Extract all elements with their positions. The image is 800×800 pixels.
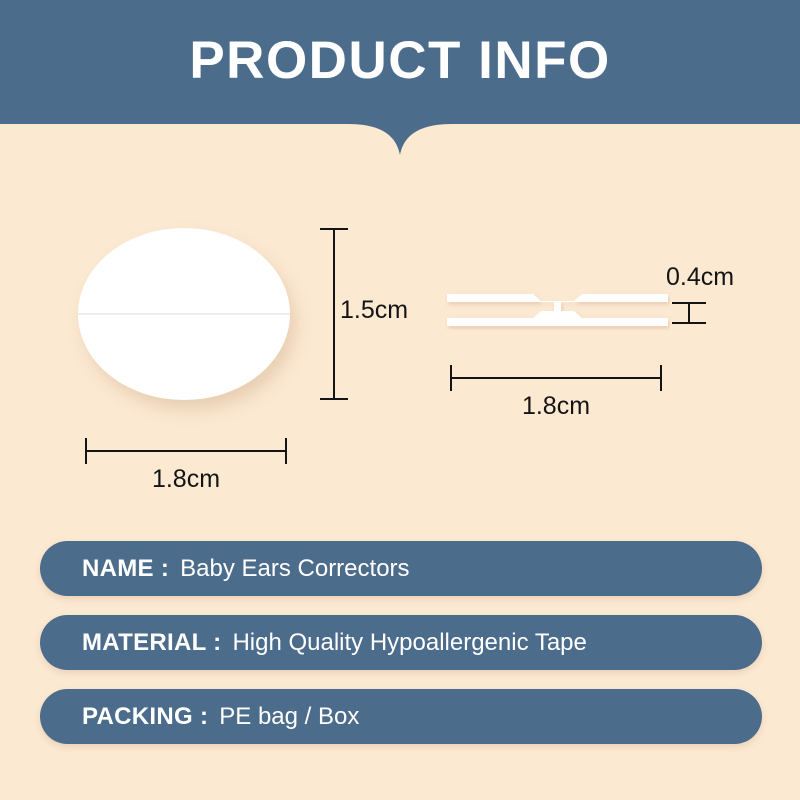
- spec-key-name: NAME :: [82, 555, 169, 583]
- spec-row-content: PACKING : PE bag / Box: [82, 689, 359, 744]
- side-width-dimension-line: [450, 365, 662, 391]
- disc-width-label: 1.8cm: [85, 465, 287, 494]
- spec-row-packing: PACKING : PE bag / Box: [40, 689, 762, 744]
- dimension-stem: [450, 377, 662, 379]
- product-info-page: PRODUCT INFO 1.5cm 1.8cm: [0, 0, 800, 800]
- spec-value-material: High Quality Hypoallergenic Tape: [232, 629, 586, 657]
- spec-row-content: MATERIAL : High Quality Hypoallergenic T…: [82, 615, 587, 670]
- spec-value-packing: PE bag / Box: [219, 703, 359, 731]
- side-thickness-dimension-line: [672, 302, 706, 324]
- dimension-stem: [688, 302, 690, 324]
- spec-row-material: MATERIAL : High Quality Hypoallergenic T…: [40, 615, 762, 670]
- dimension-cap-right: [285, 438, 287, 464]
- side-width-label: 1.8cm: [450, 392, 662, 421]
- disc-height-label: 1.5cm: [340, 296, 408, 325]
- dimension-cap-right: [660, 365, 662, 391]
- spec-value-name: Baby Ears Correctors: [180, 555, 409, 583]
- product-top-view-disc: [78, 228, 290, 400]
- spec-row-content: NAME : Baby Ears Correctors: [82, 541, 410, 596]
- header-banner: PRODUCT INFO: [0, 0, 800, 160]
- disc-seam-line: [78, 313, 290, 315]
- page-title: PRODUCT INFO: [0, 30, 800, 92]
- dimension-cap-bottom: [672, 322, 706, 324]
- side-thickness-label: 0.4cm: [666, 263, 734, 292]
- dimension-stem: [333, 228, 335, 400]
- tape-strip-profile-icon: [445, 290, 670, 330]
- product-illustration: 1.5cm 1.8cm 0.4: [0, 160, 800, 520]
- dimension-stem: [85, 450, 287, 452]
- disc-width-dimension-line: [85, 438, 287, 464]
- spec-list: NAME : Baby Ears Correctors MATERIAL : H…: [40, 541, 762, 763]
- product-side-view-strip: [445, 290, 670, 330]
- spec-key-material: MATERIAL :: [82, 629, 221, 657]
- spec-key-packing: PACKING :: [82, 703, 208, 731]
- dimension-cap-bottom: [320, 398, 348, 400]
- spec-row-name: NAME : Baby Ears Correctors: [40, 541, 762, 596]
